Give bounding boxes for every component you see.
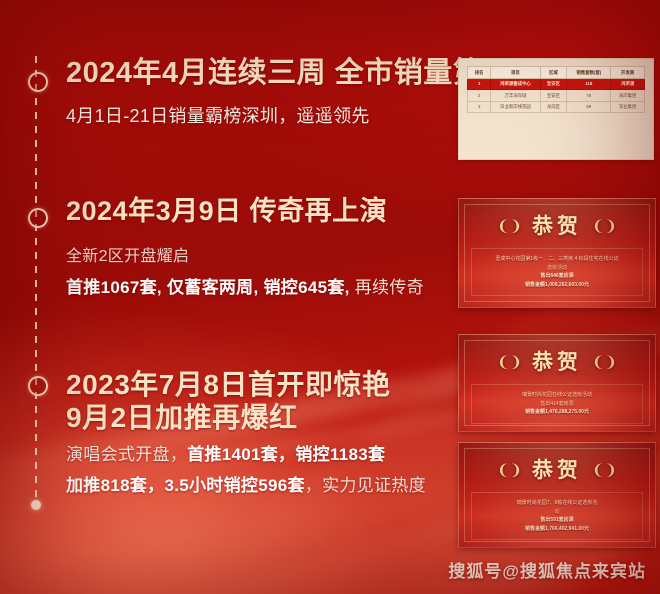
table-row: 2 万丰海岸城 宝安区 75 海岸集团 <box>468 90 645 102</box>
timeline-node-2 <box>28 208 48 228</box>
banner-2-title-text: 恭贺 <box>532 351 582 374</box>
watermark-text: 搜狐号@搜狐焦点来宾站 <box>448 557 646 582</box>
banner-3-line-3: 售出591套房源 <box>476 516 638 525</box>
entry-3-detail-2-tail: ，实力见证热度 <box>305 476 426 495</box>
banner-3-line-2: 动 <box>476 508 638 517</box>
cell-developer: 深业集团 <box>611 101 645 113</box>
banner-1-title-text: 恭贺 <box>532 215 582 238</box>
cell-sold: 118 <box>567 78 611 90</box>
banner-2-line-3: 销售金额1,476,288,275.00元 <box>476 408 638 417</box>
banner-3-title: ❨❩ 恭贺 ❨❩ <box>459 454 655 484</box>
timeline-node-1 <box>28 72 48 92</box>
banner-1-body: 壹成中心花园第1栋一、二、三类房 4 标段住宅在线公证 选房活动 售出646套房… <box>471 248 643 296</box>
entry-3-headline-line1: 2023年7月8日首开即惊艳 <box>66 368 426 401</box>
entry-3-detail-1-plain: 演唱会式开盘， <box>66 445 187 464</box>
entry-3-detail-1-bold: 首推1401套，销控1183套 <box>187 445 385 464</box>
timeline-entry-3: 2023年7月8日首开即惊艳 9月2日加推再爆红 演唱会式开盘，首推1401套，… <box>66 368 426 496</box>
entry-2-detail: 首推1067套, 仅蓄客两周, 销控645套, 再续传奇 <box>66 273 424 298</box>
laurel-right-icon: ❨❩ <box>592 461 617 479</box>
cell-project: 万丰海岸城 <box>491 90 540 102</box>
timeline-end-dot <box>31 500 41 510</box>
entry-3-detail-1: 演唱会式开盘，首推1401套，销控1183套 <box>66 440 426 465</box>
entry-1-headline: 2024年4月连续三周 全市销量第1 <box>66 56 499 90</box>
col-developer: 开发商 <box>611 67 645 79</box>
banner-3-body: 瑞景时尚花园7、8栋在线公证选房活 动 售出591套房源 销售金额1,766,4… <box>471 492 643 540</box>
entry-2-headline: 2024年3月9日 传奇再上演 <box>66 196 424 228</box>
cell-project: 深业新岸线花园 <box>491 101 540 113</box>
table-header-row: 排名 项目 区域 销售套数(套) 开发商 <box>468 67 645 79</box>
timeline-dashed-line <box>35 56 37 506</box>
banner-1-line-4: 销售金额1,009,262,603.00元 <box>476 281 638 290</box>
banner-1-line-2: 选房活动 <box>476 264 638 273</box>
cell-area: 龙岗区 <box>540 101 567 113</box>
banner-3-title-text: 恭贺 <box>532 459 582 482</box>
banner-1-line-1: 壹成中心花园第1栋一、二、三类房 4 标段住宅在线公证 <box>476 255 638 264</box>
table-row: 1 鸿荣源壹成中心 宝安区 118 鸿荣源 <box>468 78 645 90</box>
congrats-banner-1: ❨❩ 恭贺 ❨❩ 壹成中心花园第1栋一、二、三类房 4 标段住宅在线公证 选房活… <box>458 198 656 308</box>
cell-project: 鸿荣源壹成中心 <box>491 78 540 90</box>
cell-rank: 3 <box>468 101 491 113</box>
laurel-left-icon: ❨❩ <box>497 461 522 479</box>
cell-developer: 海岸集团 <box>611 90 645 102</box>
banner-2-title: ❨❩ 恭贺 ❨❩ <box>459 346 655 376</box>
cell-sold: 75 <box>567 90 611 102</box>
laurel-left-icon: ❨❩ <box>497 217 522 235</box>
banner-1-title: ❨❩ 恭贺 ❨❩ <box>459 210 655 240</box>
laurel-left-icon: ❨❩ <box>497 353 522 371</box>
col-sold: 销售套数(套) <box>567 67 611 79</box>
entry-1-subtitle: 4月1日-21日销量霸榜深圳，遥遥领先 <box>66 102 499 128</box>
col-project: 项目 <box>491 67 540 79</box>
sales-rank-table-image: 排名 项目 区域 销售套数(套) 开发商 1 鸿荣源壹成中心 宝安区 118 鸿… <box>458 58 654 160</box>
cell-developer: 鸿荣源 <box>611 78 645 90</box>
table-row: 3 深业新岸线花园 龙岗区 69 深业集团 <box>468 101 645 113</box>
congrats-banner-2: ❨❩ 恭贺 ❨❩ 瑞景时尚花园在线公证选房活动 售出414套房源 销售金额1,4… <box>458 334 656 432</box>
entry-2-subtitle: 全新2区开盘耀启 <box>66 242 424 266</box>
col-area: 区域 <box>540 67 567 79</box>
entry-3-detail-2-bold: 加推818套，3.5小时销控596套 <box>66 476 305 495</box>
banner-3-line-1: 瑞景时尚花园7、8栋在线公证选房活 <box>476 499 638 508</box>
banner-2-body: 瑞景时尚花园在线公证选房活动 售出414套房源 销售金额1,476,288,27… <box>471 384 643 424</box>
promo-poster: 2024年4月连续三周 全市销量第1 4月1日-21日销量霸榜深圳，遥遥领先 2… <box>0 0 660 594</box>
timeline-rail <box>28 56 44 506</box>
col-rank: 排名 <box>468 67 491 79</box>
cell-rank: 2 <box>468 90 491 102</box>
banner-2-line-2: 售出414套房源 <box>476 400 638 409</box>
laurel-right-icon: ❨❩ <box>592 217 617 235</box>
cell-sold: 69 <box>567 101 611 113</box>
entry-2-detail-bold: 首推1067套, 仅蓄客两周, 销控645套, <box>66 278 350 297</box>
timeline-entry-2: 2024年3月9日 传奇再上演 全新2区开盘耀启 首推1067套, 仅蓄客两周,… <box>66 196 424 298</box>
laurel-right-icon: ❨❩ <box>592 353 617 371</box>
banner-2-line-1: 瑞景时尚花园在线公证选房活动 <box>476 391 638 400</box>
entry-3-detail-2: 加推818套，3.5小时销控596套，实力见证热度 <box>66 471 426 496</box>
cell-area: 宝安区 <box>540 78 567 90</box>
cell-area: 宝安区 <box>540 90 567 102</box>
entry-2-detail-tail: 再续传奇 <box>350 278 424 297</box>
entry-3-headline-line2: 9月2日加推再爆红 <box>66 401 426 434</box>
cell-rank: 1 <box>468 78 491 90</box>
banner-3-line-4: 销售金额1,766,402,941.00元 <box>476 525 638 534</box>
sales-rank-table: 排名 项目 区域 销售套数(套) 开发商 1 鸿荣源壹成中心 宝安区 118 鸿… <box>467 66 645 113</box>
banner-1-line-3: 售出646套房源 <box>476 272 638 281</box>
timeline-node-3 <box>28 376 48 396</box>
timeline-entry-1: 2024年4月连续三周 全市销量第1 4月1日-21日销量霸榜深圳，遥遥领先 <box>66 56 499 128</box>
congrats-banner-3: ❨❩ 恭贺 ❨❩ 瑞景时尚花园7、8栋在线公证选房活 动 售出591套房源 销售… <box>458 442 656 548</box>
